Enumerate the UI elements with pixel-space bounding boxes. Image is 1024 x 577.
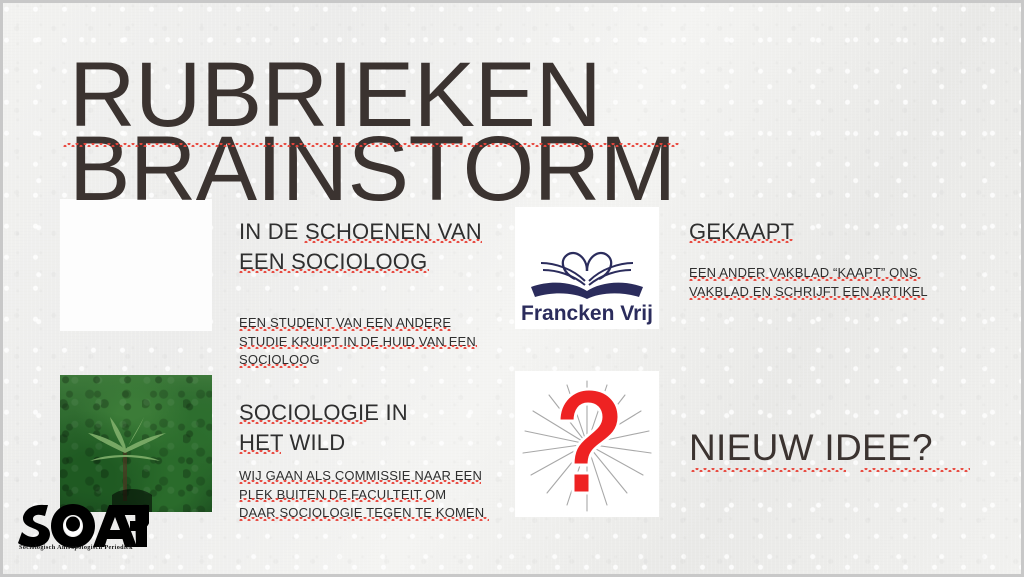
heading-gekaapt-underline xyxy=(689,239,793,243)
body-wild-underline-3 xyxy=(239,517,489,521)
section-heading-wild: SOCIOLOGIE IN HET WILD xyxy=(239,398,489,458)
francken-vrij-book-heart-mark: Francken Vrij xyxy=(515,207,659,329)
heading-wild-underline-2 xyxy=(239,450,281,454)
heading-nieuw-underline-2 xyxy=(860,468,970,472)
francken-vrij-wordmark: Francken Vrij xyxy=(521,302,653,325)
body-gekaapt-underline-1 xyxy=(689,277,921,281)
jungle-photo xyxy=(60,375,212,512)
heading-schoenen-underline-2 xyxy=(239,269,429,273)
body-wild-underline-2 xyxy=(239,498,434,502)
section-heading-schoenen: IN DE SCHOENEN VAN EEN SOCIOLOOG xyxy=(239,217,499,277)
soap-logo-tagline: Sociologisch Antropologisch Periodiek xyxy=(19,544,147,551)
francken-vrij-logo: Francken Vrij xyxy=(515,207,659,329)
section-heading-nieuw-idee: NIEUW IDEE? xyxy=(689,427,1009,469)
title-spellcheck-underline xyxy=(63,143,683,149)
heading-nieuw-underline-1 xyxy=(691,468,846,472)
body-gekaapt-underline-2 xyxy=(689,296,925,300)
question-mark-with-rays xyxy=(515,371,659,517)
section-body-wild: WIJ GAAN ALS COMMISSIE NAAR EEN PLEK BUI… xyxy=(239,467,504,523)
soap-logo: Sociologisch Antropologisch Periodiek xyxy=(17,503,149,563)
presentation-slide: Francken Vrij xyxy=(0,0,1024,577)
soap-wordmark-mark xyxy=(17,503,149,549)
page-title: RUBRIEKEN BRAINSTORM xyxy=(69,58,969,206)
body-schoenen-underline-1 xyxy=(239,327,451,331)
red-question-mark-image xyxy=(515,371,659,517)
body-schoenen-underline-3 xyxy=(239,364,307,368)
body-schoenen-underline-2 xyxy=(239,345,477,349)
heading-schoenen-underline-1 xyxy=(304,239,482,243)
section-body-schoenen: EEN STUDENT VAN EEN ANDERE STUDIE KRUIPT… xyxy=(239,314,497,370)
jungle-palm-tree xyxy=(60,375,212,512)
heading-wild-underline-1 xyxy=(239,420,367,424)
body-wild-underline-1 xyxy=(239,480,481,484)
